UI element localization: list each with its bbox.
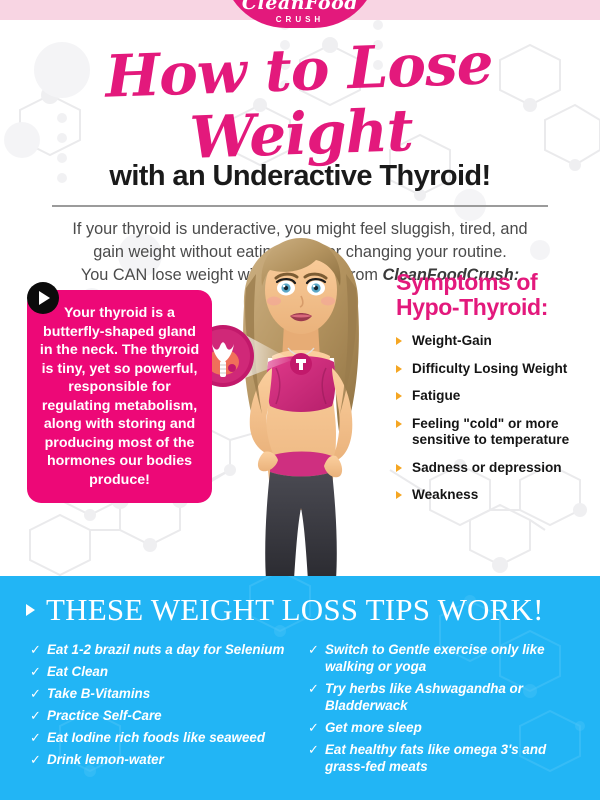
symptom-item: Difficulty Losing Weight — [396, 361, 592, 378]
check-icon: ✓ — [30, 729, 41, 746]
symptom-label: Feeling "cold" or more sensitive to temp… — [412, 416, 569, 448]
band-heading: THESE WEIGHT LOSS TIPS WORK! — [26, 593, 600, 627]
tip-label: Drink lemon-water — [47, 752, 164, 767]
tip-item: ✓Get more sleep — [308, 719, 586, 736]
play-triangle-icon — [39, 291, 50, 305]
tip-item: ✓Practice Self-Care — [30, 707, 308, 724]
check-icon: ✓ — [308, 741, 319, 758]
symptom-label: Difficulty Losing Weight — [412, 361, 567, 376]
triangle-bullet-icon — [396, 337, 402, 345]
triangle-bullet-icon — [396, 365, 402, 373]
check-icon: ✓ — [308, 680, 319, 697]
check-icon: ✓ — [30, 751, 41, 768]
symptom-label: Weight-Gain — [412, 333, 492, 348]
triangle-bullet-icon — [396, 491, 402, 499]
check-icon: ✓ — [308, 719, 319, 736]
check-icon: ✓ — [308, 641, 319, 658]
tip-item: ✓Take B-Vitamins — [30, 685, 308, 702]
band-heading-text: THESE WEIGHT LOSS TIPS WORK! — [46, 593, 544, 627]
symptom-item: Sadness or depression — [396, 460, 592, 477]
play-icon[interactable] — [27, 282, 59, 314]
check-icon: ✓ — [30, 641, 41, 658]
symptoms-heading-line1: Symptoms of — [396, 269, 537, 295]
check-icon: ✓ — [30, 707, 41, 724]
tip-item: ✓Try herbs like Ashwagandha or Bladderwa… — [308, 680, 586, 714]
tip-item: ✓Switch to Gentle exercise only like wal… — [308, 641, 586, 675]
tip-label: Eat Iodine rich foods like seaweed — [47, 730, 265, 745]
symptom-item: Fatigue — [396, 388, 592, 405]
tip-item: ✓Eat healthy fats like omega 3's and gra… — [308, 741, 586, 775]
tip-item: ✓Eat Iodine rich foods like seaweed — [30, 729, 308, 746]
logo-script-text: CleanFood — [222, 0, 378, 13]
tip-label: Eat healthy fats like omega 3's and gras… — [325, 742, 546, 774]
symptoms-heading-line2: Hypo-Thyroid: — [396, 294, 548, 320]
triangle-bullet-icon — [396, 392, 402, 400]
tips-column-left: ✓Eat 1-2 brazil nuts a day for Selenium … — [30, 641, 308, 780]
symptom-item: Weakness — [396, 487, 592, 504]
check-icon: ✓ — [30, 663, 41, 680]
tips-column-right: ✓Switch to Gentle exercise only like wal… — [308, 641, 586, 780]
tip-label: Take B-Vitamins — [47, 686, 150, 701]
symptom-item: Feeling "cold" or more sensitive to temp… — [396, 416, 592, 449]
tip-item: ✓Eat Clean — [30, 663, 308, 680]
tip-label: Get more sleep — [325, 720, 422, 735]
tip-label: Eat 1-2 brazil nuts a day for Selenium — [47, 642, 284, 657]
tips-columns: ✓Eat 1-2 brazil nuts a day for Selenium … — [0, 641, 600, 780]
tip-label: Switch to Gentle exercise only like walk… — [325, 642, 545, 674]
check-icon: ✓ — [30, 685, 41, 702]
symptom-label: Weakness — [412, 487, 478, 502]
symptom-label: Fatigue — [412, 388, 460, 403]
triangle-bullet-icon — [396, 464, 402, 472]
weight-loss-tips-band: THESE WEIGHT LOSS TIPS WORK! ✓Eat 1-2 br… — [0, 576, 600, 800]
callout-text: Your thyroid is a butterfly-shaped gland… — [37, 304, 202, 489]
tip-label: Eat Clean — [47, 664, 108, 679]
thyroid-info-callout: Your thyroid is a butterfly-shaped gland… — [27, 290, 212, 503]
symptom-label: Sadness or depression — [412, 460, 562, 475]
triangle-bullet-icon — [396, 420, 402, 428]
triangle-bullet-icon — [26, 604, 35, 616]
page-title-script: How to Lose Weight — [0, 28, 600, 177]
tip-label: Try herbs like Ashwagandha or Bladderwac… — [325, 681, 523, 713]
symptoms-list: Weight-Gain Difficulty Losing Weight Fat… — [396, 333, 592, 504]
symptom-item: Weight-Gain — [396, 333, 592, 350]
symptoms-section: Symptoms of Hypo-Thyroid: Weight-Gain Di… — [396, 270, 592, 515]
tip-label: Practice Self-Care — [47, 708, 162, 723]
logo-sub-text: CRUSH — [222, 15, 378, 24]
tip-item: ✓Drink lemon-water — [30, 751, 308, 768]
tip-item: ✓Eat 1-2 brazil nuts a day for Selenium — [30, 641, 308, 658]
symptoms-heading: Symptoms of Hypo-Thyroid: — [396, 270, 592, 320]
infographic-page: CleanFood CRUSH How to Lose Weight with … — [0, 0, 600, 800]
woman-thyroid-illustration — [196, 228, 406, 580]
header-divider — [52, 205, 548, 207]
